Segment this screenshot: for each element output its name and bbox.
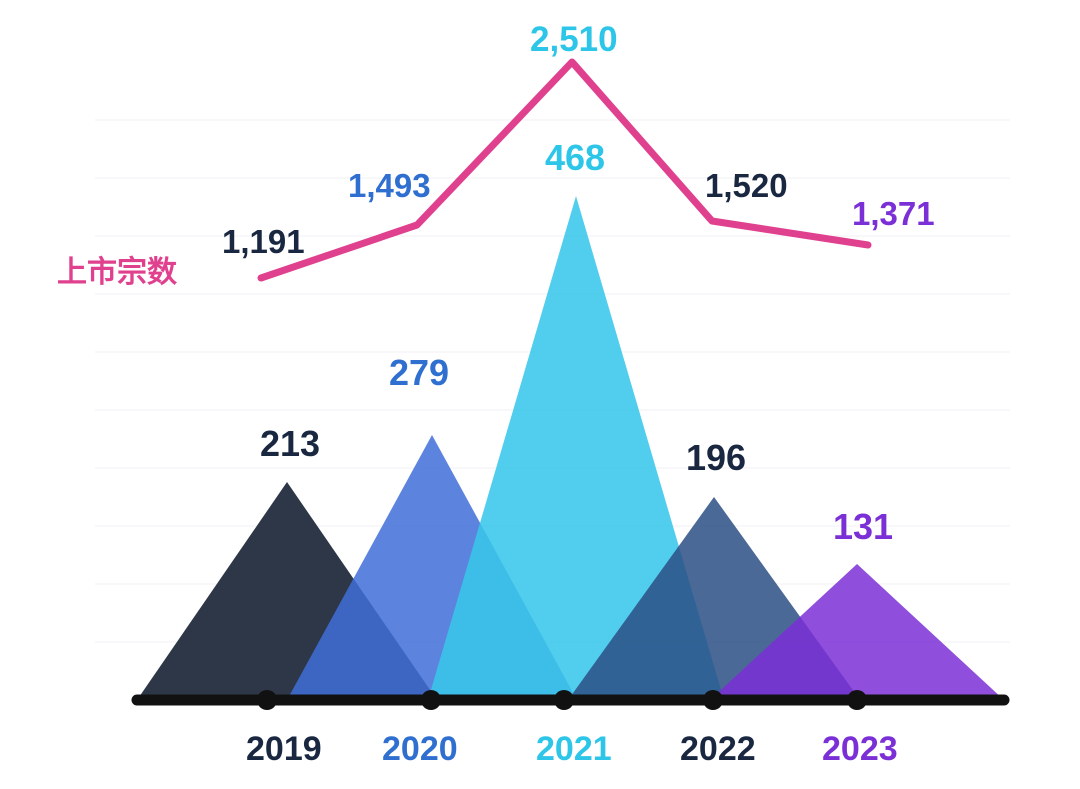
line-value-label-2021: 2,510 xyxy=(530,20,618,59)
axis-tick-label-2021: 2021 xyxy=(536,730,612,768)
peak-value-label-2020: 279 xyxy=(389,352,449,393)
axis-tick-label-2019: 2019 xyxy=(246,730,322,768)
peak-value-label-2023: 131 xyxy=(833,506,893,547)
axis-tick-label-2020: 2020 xyxy=(382,730,458,768)
line-value-label-2022: 1,520 xyxy=(705,167,788,204)
line-value-label-2023: 1,371 xyxy=(852,195,935,232)
line-value-label-2019: 1,191 xyxy=(222,223,305,260)
axis-tick-label-2023: 2023 xyxy=(822,730,898,768)
chart-container: 上市宗数 1,191 1,493 2,510 1,520 1,371 213 2… xyxy=(0,0,1080,789)
peak-value-label-2022: 196 xyxy=(686,437,746,478)
line-value-label-2020: 1,493 xyxy=(348,167,431,204)
axis-tick-label-2022: 2022 xyxy=(680,730,756,768)
legend-label-listings: 上市宗数 xyxy=(57,255,178,289)
mountain-chart: 上市宗数 1,191 1,493 2,510 1,520 1,371 213 2… xyxy=(0,0,1080,789)
peak-value-label-2019: 213 xyxy=(260,423,320,464)
peak-value-label-2021: 468 xyxy=(545,137,605,178)
